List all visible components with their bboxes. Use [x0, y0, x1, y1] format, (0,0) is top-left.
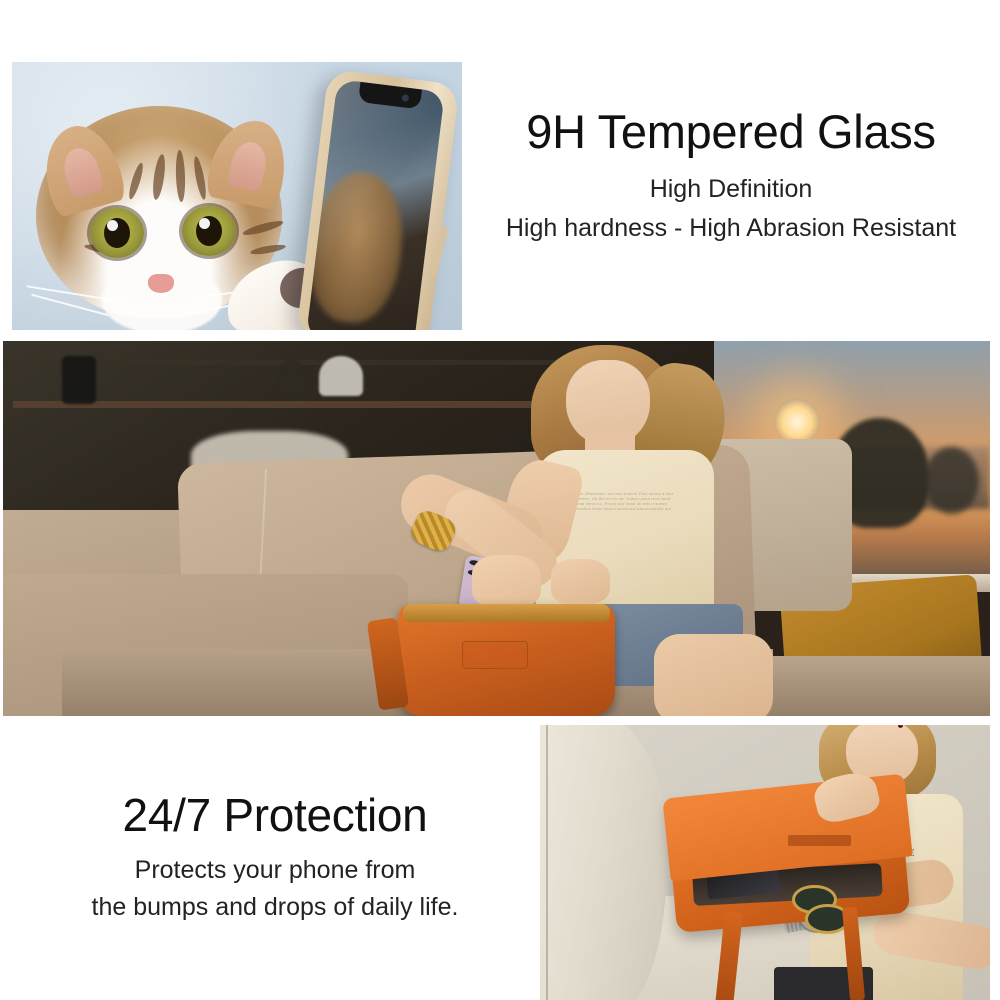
kitten-stripe: [242, 218, 285, 237]
shelf-lamp-object: [319, 356, 363, 396]
shelf-lower: [13, 401, 566, 408]
woman-leg: [654, 634, 772, 717]
armchair-seam: [546, 725, 548, 1000]
kitten-eye-left: [90, 208, 144, 258]
phone-screen-glare: [306, 79, 445, 330]
kitten-nose: [148, 274, 174, 293]
sun: [774, 399, 820, 445]
product-feature-page: 9H Tempered Glass High Definition High h…: [0, 0, 1000, 1000]
bag-zipper: [403, 604, 610, 623]
kitten-ear-inner-right: [227, 139, 270, 192]
top-text-block: 9H Tempered Glass High Definition High h…: [476, 106, 986, 243]
woman-mouth-interior: [899, 726, 903, 728]
subline-high-hardness: High hardness - High Abrasion Resistant: [476, 214, 986, 243]
armchair-backrest: [540, 725, 666, 1000]
bag-logo-stamp: [788, 835, 851, 846]
headline-24-7-protection: 24/7 Protection: [40, 790, 510, 842]
phone-front-camera-icon: [401, 94, 409, 102]
subline-bumps-and-drops: the bumps and drops of daily life.: [40, 893, 510, 922]
shelf-plant-object: [279, 360, 305, 394]
bottom-text-block: 24/7 Protection Protects your phone from…: [40, 790, 510, 922]
kitten-eye-right: [182, 206, 236, 256]
woman-second-hand: [551, 559, 610, 604]
kitten-stripe: [127, 162, 146, 201]
photo-woman-placing-phone-in-bag: Rorth on (Warmster, we mod thomm Parc st…: [3, 341, 990, 716]
woman-hand-holding-phone: [472, 555, 541, 608]
headline-9h-tempered-glass: 9H Tempered Glass: [476, 106, 986, 159]
subline-high-definition: High Definition: [476, 175, 986, 204]
subline-protects-your-phone: Protects your phone from: [40, 856, 510, 885]
kitten-ear-inner-left: [59, 144, 105, 199]
shelf-jar-object: [62, 356, 96, 404]
bag-brand-tag: [462, 641, 528, 669]
photo-kitten-touching-phone: [12, 62, 462, 330]
kitten-stripe: [151, 154, 167, 201]
phone-screen: [306, 79, 445, 330]
kitten-stripe: [175, 150, 186, 202]
photo-open-bag-closeup: TRORUE Here oat-o-land citatem sumtt. Th…: [540, 725, 990, 1000]
kitten-stripe: [192, 156, 208, 201]
woman-open-mouth: [898, 725, 903, 728]
tree-silhouette-far: [924, 447, 979, 514]
